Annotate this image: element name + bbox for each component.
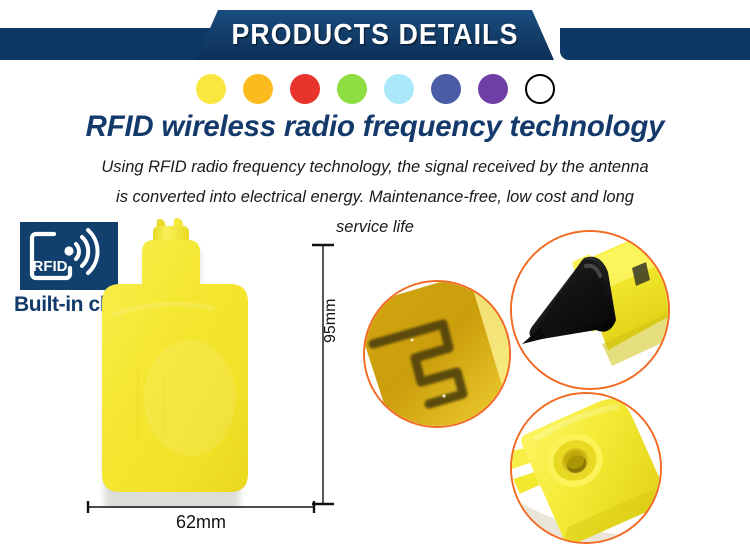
tip-closeup-inset xyxy=(510,230,670,390)
section-heading: RFID wireless radio frequency technology xyxy=(8,110,743,144)
hole-closeup-inset xyxy=(510,392,662,544)
banner-band-left xyxy=(0,28,214,60)
product-photo-yellow-ear-tag xyxy=(78,218,318,508)
color-swatch-green[interactable] xyxy=(337,74,367,104)
dimension-label-width: 62mm xyxy=(86,512,316,533)
color-swatch-light-blue[interactable] xyxy=(384,74,414,104)
color-swatch-purple[interactable] xyxy=(478,74,508,104)
banner-band-right xyxy=(560,28,750,60)
dimension-line-height xyxy=(300,243,344,506)
dimension-label-height: 95mm xyxy=(322,299,340,343)
color-swatch-yellow[interactable] xyxy=(196,74,226,104)
page-header-banner: PRODUCTS DETAILS xyxy=(0,0,750,62)
color-swatch-red[interactable] xyxy=(290,74,320,104)
color-swatch-blue-violet[interactable] xyxy=(431,74,461,104)
color-swatch-white[interactable] xyxy=(525,74,555,104)
antenna-closeup-inset xyxy=(363,280,511,428)
color-swatch-row xyxy=(0,74,750,104)
color-swatch-amber[interactable] xyxy=(243,74,273,104)
page-title: PRODUCTS DETAILS xyxy=(210,10,539,60)
svg-text:RFID: RFID xyxy=(33,258,68,275)
